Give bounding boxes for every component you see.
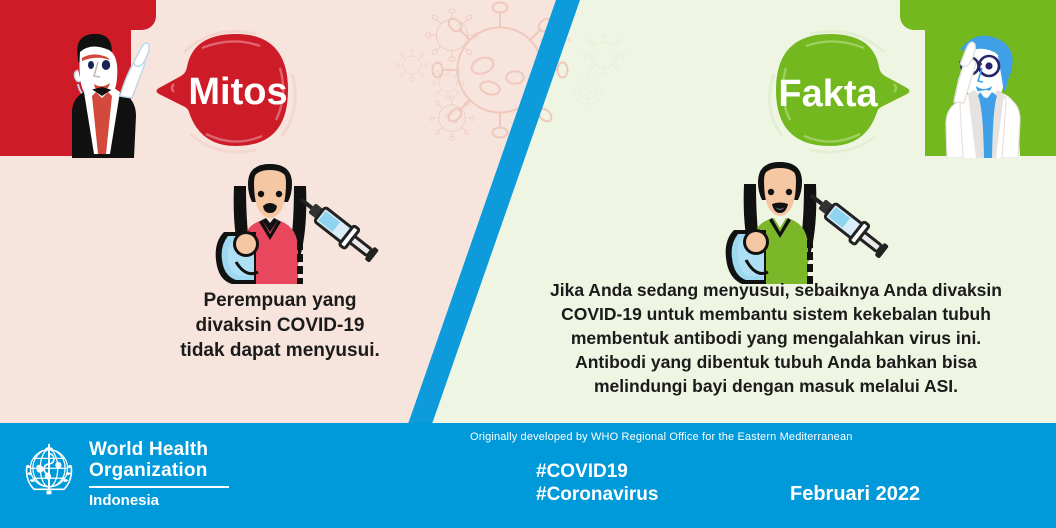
hashtag-covid19: #COVID19 [536,460,658,483]
mother-baby-happy-icon [722,160,902,284]
fact-line-2: COVID-19 untuk membantu sistem kekebalan… [520,302,1032,326]
myth-line-1: Perempuan yang [120,288,440,313]
fact-badge-text: Fakta [778,73,878,115]
myth-badge-text: Mitos [188,71,287,113]
doctor-pointing-icon [904,18,1036,158]
myth-body-text: Perempuan yang divaksin COVID-19 tidak d… [120,288,440,363]
who-name-line2: Organization [89,460,229,481]
myth-badge: Mitos [150,22,310,162]
fact-line-5: melindungi bayi dengan masuk melalui ASI… [520,374,1032,398]
who-emblem-icon [18,441,80,503]
hashtag-coronavirus: #Coronavirus [536,483,658,506]
who-divider-rule [89,486,229,488]
credit-text: Originally developed by WHO Regional Off… [470,431,940,443]
who-country-label: Indonesia [89,492,229,509]
date-label: Februari 2022 [790,483,920,506]
footer-bar: World Health Organization Indonesia Orig… [0,423,1056,528]
fact-badge: Fakta [748,22,920,164]
who-name-line1: World Health [89,439,229,460]
fact-line-1: Jika Anda sedang menyusui, sebaiknya And… [520,278,1032,302]
hashtags-group: #COVID19 #Coronavirus [536,460,658,506]
fact-body-text: Jika Anda sedang menyusui, sebaiknya And… [520,278,1032,398]
man-pointing-icon [20,18,150,158]
poster-canvas: Mitos Fakta [0,0,1056,528]
fact-line-4: Antibodi yang dibentuk tubuh Anda bahkan… [520,350,1032,374]
myth-line-2: divaksin COVID-19 [120,313,440,338]
fact-line-3: membentuk antibodi yang mengalahkan viru… [520,326,1032,350]
who-logo: World Health Organization Indonesia [18,439,278,515]
who-wordmark: World Health Organization Indonesia [89,439,229,509]
myth-line-3: tidak dapat menyusui. [120,338,440,363]
mother-baby-sad-icon [212,162,392,284]
